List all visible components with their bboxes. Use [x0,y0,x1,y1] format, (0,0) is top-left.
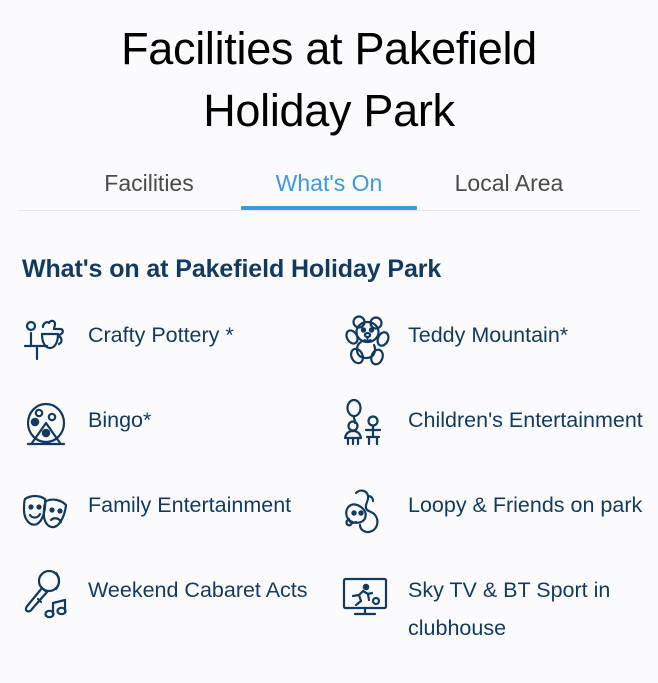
activity-item-bingo[interactable]: Bingo* [18,395,338,480]
activity-label: Teddy Mountain* [408,310,568,354]
activity-label: Sky TV & BT Sport in clubhouse [408,565,648,648]
activity-item-loopy-and-friends[interactable]: Loopy & Friends on park [338,480,648,565]
theatre-masks-icon [18,482,74,538]
activity-item-childrens-entertainment[interactable]: Children's Entertainment [338,395,648,480]
activity-label: Children's Entertainment [408,395,643,439]
activity-label: Bingo* [88,395,151,439]
squirrel-mascot-icon [338,482,394,538]
bingo-ball-cage-icon [18,397,74,453]
activity-label: Loopy & Friends on park [408,480,642,524]
activity-item-weekend-cabaret-acts[interactable]: Weekend Cabaret Acts [18,565,338,650]
section-heading: What's on at Pakefield Holiday Park [0,211,658,284]
activities-grid: Crafty Pottery * Teddy Mountain* [0,310,658,650]
page-title: Facilities at Pakefield Holiday Park [0,0,658,142]
activity-item-sky-tv-bt-sport[interactable]: Sky TV & BT Sport in clubhouse [338,565,648,650]
page-title-line1: Facilities at Pakefield [121,23,537,74]
tab-facilities[interactable]: Facilities [59,170,239,210]
teddy-bear-icon [338,312,394,368]
activity-label: Crafty Pottery * [88,310,234,354]
tv-sport-icon [338,567,394,623]
activity-item-crafty-pottery[interactable]: Crafty Pottery * [18,310,338,395]
tab-local-area[interactable]: Local Area [419,170,599,210]
tab-bar: Facilities What's On Local Area [0,170,658,210]
activity-item-teddy-mountain[interactable]: Teddy Mountain* [338,310,648,395]
children-balloon-icon [338,397,394,453]
activity-item-family-entertainment[interactable]: Family Entertainment [18,480,338,565]
page-title-line2: Holiday Park [203,85,455,136]
pottery-icon [18,312,74,368]
tab-whats-on[interactable]: What's On [239,170,419,210]
activity-label: Family Entertainment [88,480,291,524]
activity-label: Weekend Cabaret Acts [88,565,308,609]
microphone-music-icon [18,567,74,623]
